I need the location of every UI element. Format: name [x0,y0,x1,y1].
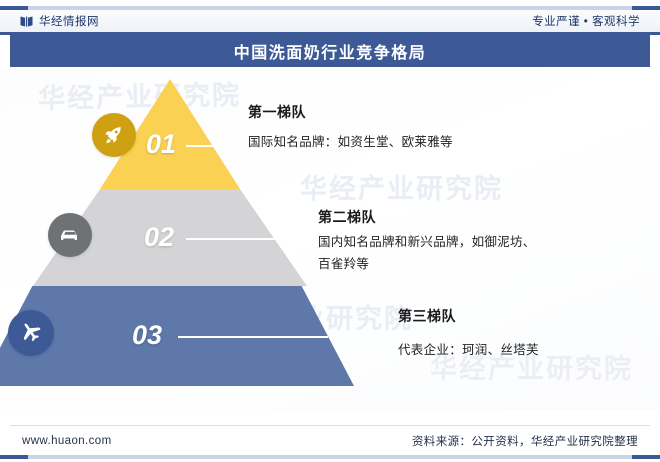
title-bar: 中国洗面奶行业竞争格局 [10,35,650,67]
tier-3-number: 03 [132,320,162,351]
tier-2-connector-line [186,238,282,240]
tier-3-body: 代表企业：珂润、丝塔芙 [398,340,648,362]
rocket-icon [92,113,136,157]
page-footer: www.huaon.com 资料来源：公开资料，华经产业研究院整理 [0,426,660,456]
airplane-icon [8,310,54,356]
brand: 华经情报网 [20,13,99,29]
tier-1-number: 01 [146,129,176,160]
tier-2-heading: 第二梯队 [318,207,598,227]
tier-1-description: 第一梯队 国际知名品牌：如资生堂、欧莱雅等 [248,102,548,154]
tier-2-body-line1: 国内知名品牌和新兴品牌，如御泥坊、 [318,232,598,254]
footer-source: 资料来源：公开资料，华经产业研究院整理 [412,433,638,449]
diagram-canvas: 华经产业研究院 华经产业研究院 华经产业研究院 华经产业研究院 03 02 [0,67,660,410]
tier-2-number: 02 [144,222,174,253]
header-tagline: 专业严谨 • 客观科学 [532,13,640,29]
tier-3-heading: 第三梯队 [398,306,648,326]
tier-2-body-line2: 百雀羚等 [318,254,598,276]
tier-1-body: 国际知名品牌：如资生堂、欧莱雅等 [248,132,548,154]
tier-2-description: 第二梯队 国内知名品牌和新兴品牌，如御泥坊、 百雀羚等 [318,207,598,276]
car-icon [48,213,92,257]
infographic-page: 华经情报网 专业严谨 • 客观科学 中国洗面奶行业竞争格局 华经产业研究院 华经… [0,0,660,462]
page-header: 华经情报网 专业严谨 • 客观科学 [0,10,660,32]
tier-3-description: 第三梯队 代表企业：珂润、丝塔芙 [398,306,648,362]
tier-1-connector-line [186,145,224,147]
book-logo-icon [20,15,33,28]
bottom-accent-rule [0,455,660,459]
tier-3-connector-line [178,336,328,338]
page-title: 中国洗面奶行业竞争格局 [234,39,427,63]
tier-1-heading: 第一梯队 [248,102,548,122]
brand-name: 华经情报网 [39,13,99,29]
footer-url[interactable]: www.huaon.com [22,435,112,447]
